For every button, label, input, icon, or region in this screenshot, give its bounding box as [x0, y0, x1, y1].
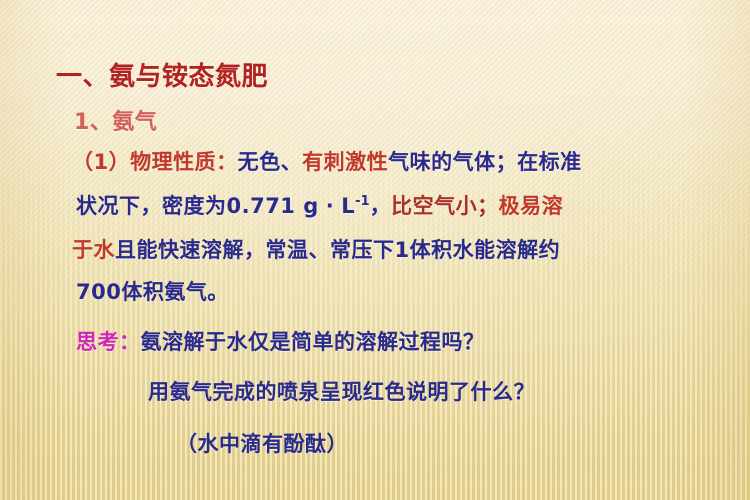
question-text-1: 氨溶解于水仅是简单的溶解过程吗？	[141, 330, 485, 354]
slide-content: 一、氨与铵态氮肥 1、氨气 （1）物理性质：无色、有刺激性气味的气体；在标准 状…	[0, 0, 750, 500]
slide-canvas: 一、氨与铵态氮肥 1、氨气 （1）物理性质：无色、有刺激性气味的气体；在标准 状…	[0, 0, 750, 500]
body-line-1: （1）物理性质：无色、有刺激性气味的气体；在标准	[72, 146, 582, 176]
body-line-3-seg-tail: 且能快速溶解，常温、常压下1体积水能溶解约	[115, 238, 560, 262]
question-line-3: （水中滴有酚酞）	[176, 428, 348, 458]
body-line-2-seg-litre-exponent: -1	[355, 194, 369, 209]
body-line-1-seg-pungent: 有刺激性	[302, 150, 388, 174]
body-line-2: 状况下，密度为0.771 g·L-1，比空气小；极易溶	[76, 190, 563, 220]
body-line-1-seg-tail: 气味的气体；在标准	[388, 150, 582, 174]
question-line-1: 思考：氨溶解于水仅是简单的溶解过程吗？	[76, 326, 485, 356]
slide-heading: 一、氨与铵态氮肥	[56, 56, 268, 93]
body-line-4: 700体积氨气。	[76, 276, 229, 306]
body-line-2-seg-density: 状况下，密度为0.771 g	[76, 194, 319, 218]
body-line-2-seg-dot: ·	[326, 194, 334, 218]
body-line-2-seg-comma: ，	[370, 194, 392, 218]
body-line-3: 于水且能快速溶解，常温、常压下1体积水能溶解约	[72, 234, 560, 264]
think-label: 思考：	[76, 330, 141, 354]
body-line-1-seg-colorless: 无色、	[238, 150, 303, 174]
body-line-3-seg-in-water: 于水	[72, 238, 115, 262]
body-line-2-seg-very-soluble: 极易溶	[499, 194, 564, 218]
body-line-2-seg-lighter-than-air: 比空气小；	[391, 194, 499, 218]
body-line-2-seg-litre: L	[341, 194, 355, 218]
slide-subheading: 1、氨气	[74, 104, 157, 136]
question-line-2: 用氨气完成的喷泉呈现红色说明了什么？	[148, 376, 535, 406]
body-line-1-seg-label: （1）物理性质：	[72, 150, 238, 174]
body-line-4-seg-volume: 700体积氨气。	[76, 280, 229, 304]
